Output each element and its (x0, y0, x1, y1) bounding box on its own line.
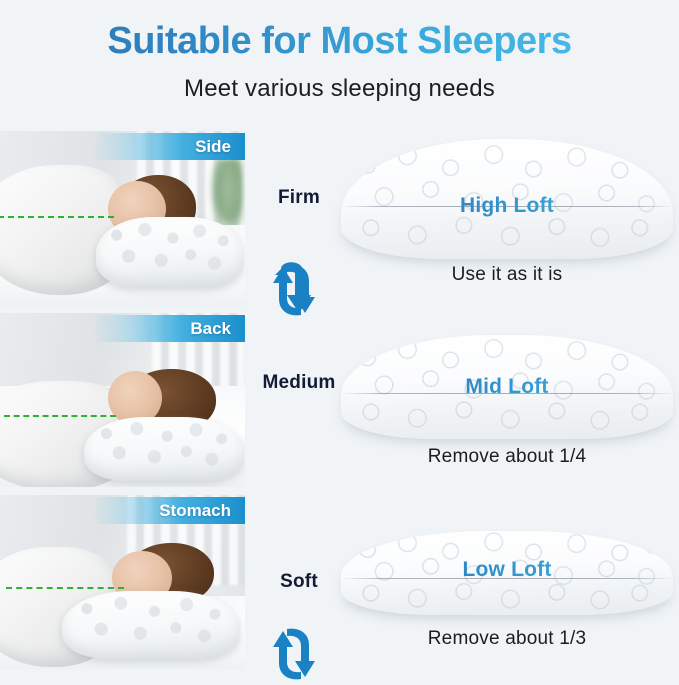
pillow-graphic-mid-loft (341, 335, 673, 439)
spine-alignment-line (0, 216, 114, 218)
sleep-position-photo-column: Side Back Stomach (0, 131, 245, 679)
photo-pillow (96, 217, 244, 287)
pillow-graphic-low-loft (341, 531, 673, 615)
photo-pillow (62, 591, 240, 659)
loft-caption-soft: Remove about 1/3 (341, 628, 673, 650)
adjust-fill-cycle-icon (269, 259, 319, 321)
sleep-position-banner-stomach: Stomach (93, 497, 245, 524)
sleep-position-label: Back (190, 319, 245, 339)
adjust-fill-cycle-icon (269, 623, 319, 685)
loft-caption-firm: Use it as it is (341, 264, 673, 286)
photo-pillow (84, 417, 244, 481)
header: Suitable for Most Sleepers Meet various … (0, 0, 679, 122)
firmness-label-firm: Firm (247, 187, 351, 209)
sleep-position-card-side: Side (0, 131, 245, 305)
firmness-label-medium: Medium (247, 372, 351, 394)
sleep-position-card-stomach: Stomach (0, 495, 245, 669)
sleep-position-banner-side: Side (93, 133, 245, 160)
loft-option-medium: Medium Mid Loft Remove about 1/4 (245, 313, 679, 495)
spine-alignment-line (6, 587, 124, 589)
sleep-position-banner-back: Back (93, 315, 245, 342)
firmness-label-soft: Soft (247, 571, 351, 593)
sleep-position-label: Side (195, 137, 245, 157)
loft-options-column: Firm High Loft Use it as it is Medium (245, 131, 679, 679)
sleep-position-card-back: Back (0, 313, 245, 487)
sleep-position-label: Stomach (159, 501, 245, 521)
page-subtitle: Meet various sleeping needs (0, 63, 679, 103)
loft-option-firm: Firm High Loft Use it as it is (245, 131, 679, 313)
spine-alignment-line (4, 415, 116, 417)
loft-caption-medium: Remove about 1/4 (341, 446, 673, 468)
pillow-graphic-high-loft (341, 139, 673, 259)
page-title: Suitable for Most Sleepers (0, 0, 679, 63)
